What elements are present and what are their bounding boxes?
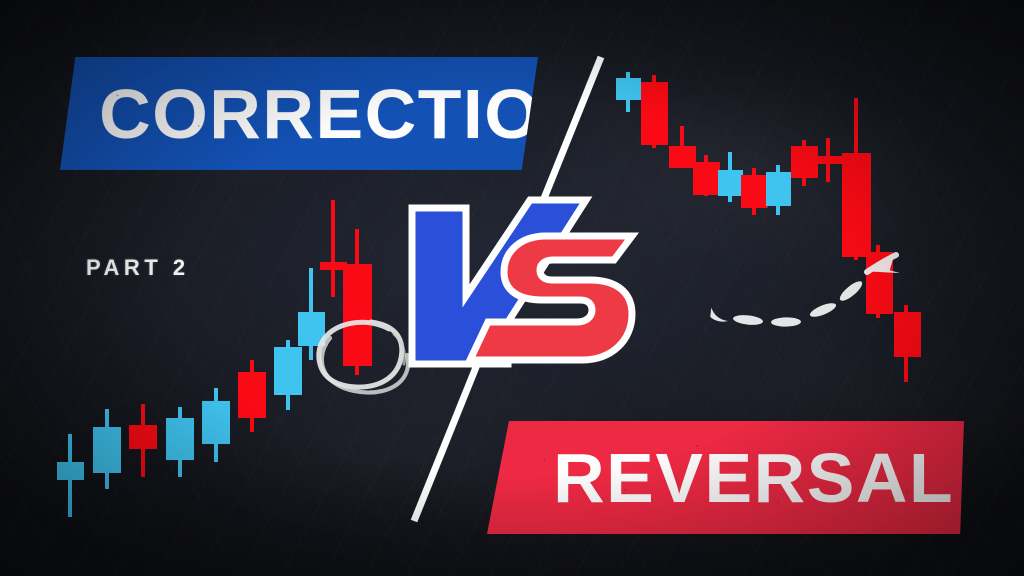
vignette-overlay <box>0 0 1024 576</box>
thumbnail-canvas: CORRECTION PART 2 VS REVERSAL <box>0 0 1024 576</box>
